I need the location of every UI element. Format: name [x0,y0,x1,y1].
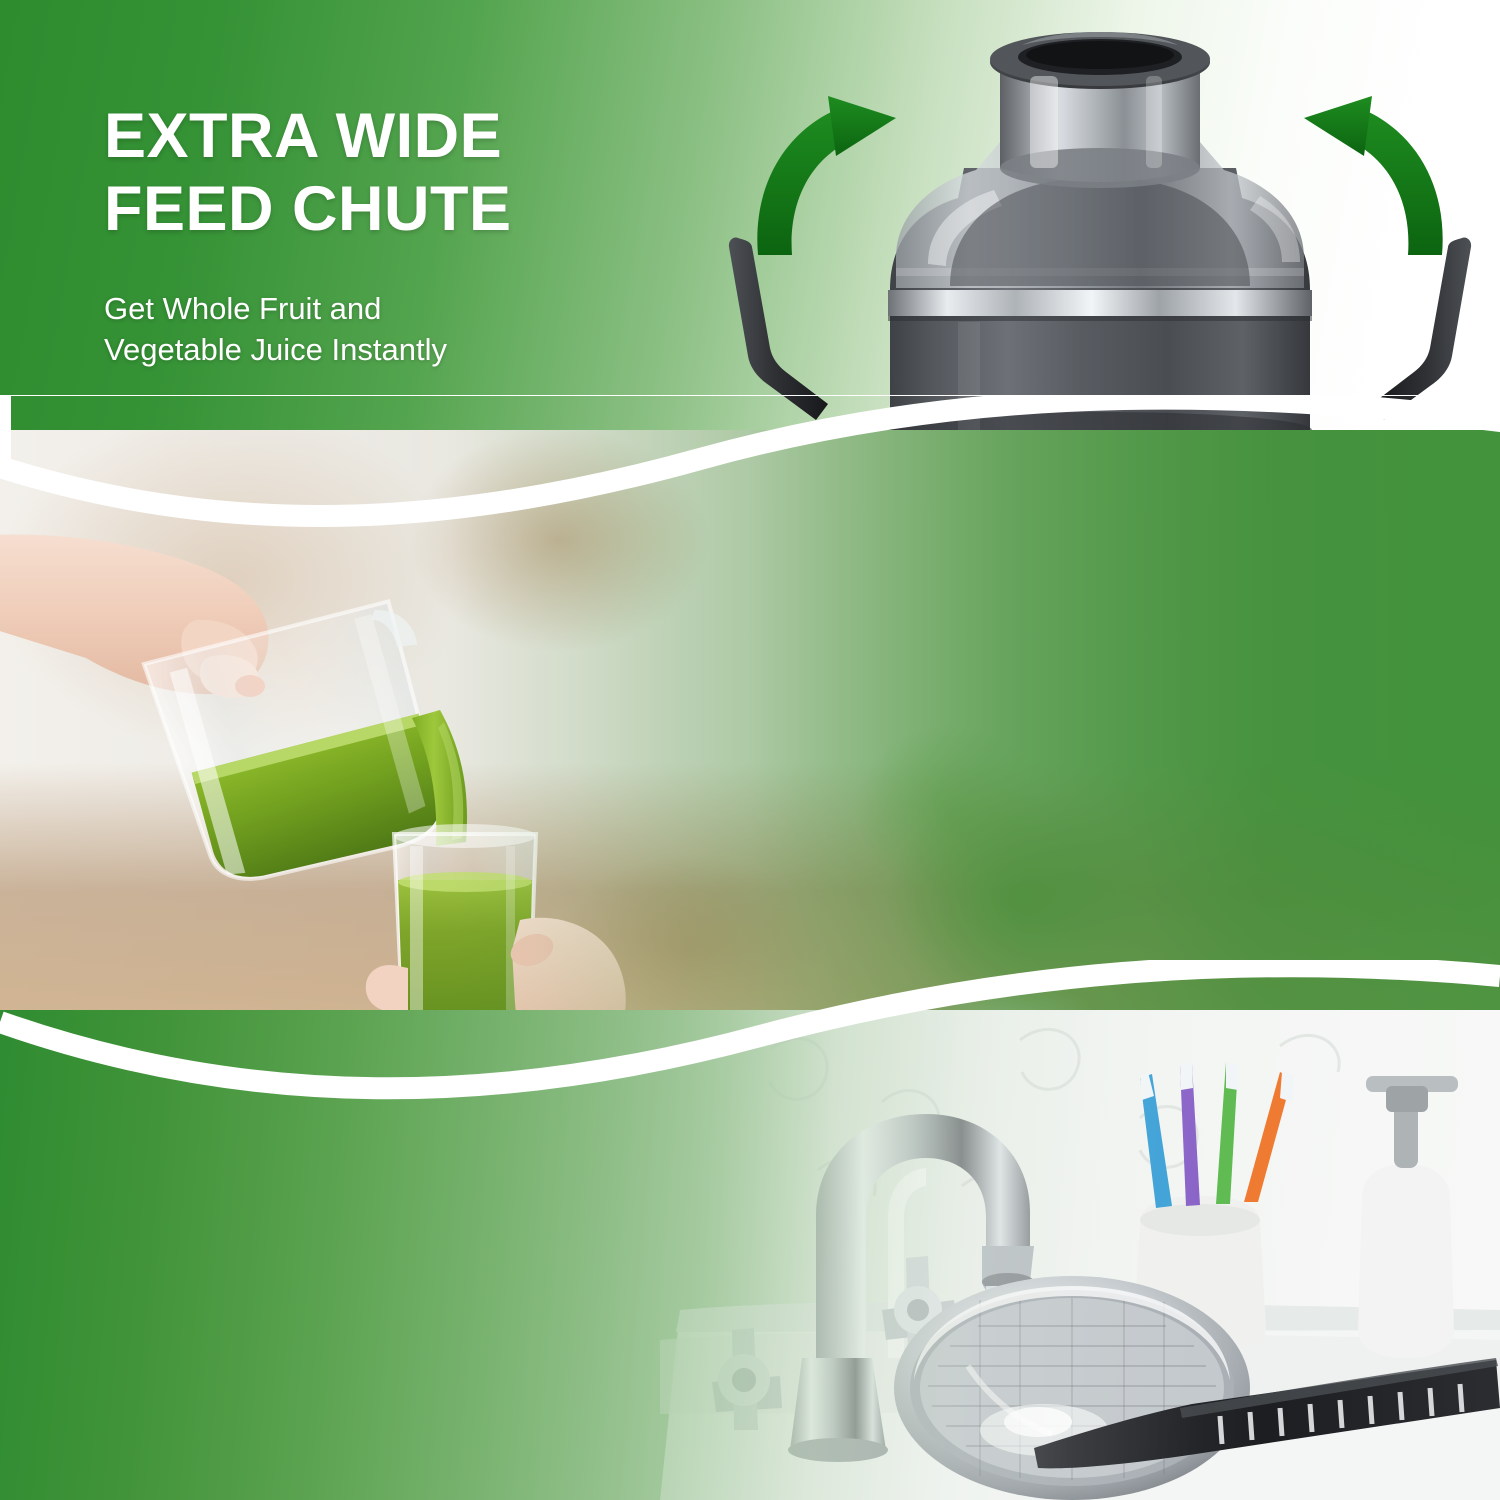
panel1-heading: EXTRA WIDE FEED CHUTE [104,100,512,246]
rotation-arrow-left [757,96,896,255]
infographic-canvas: EXTRA WIDE FEED CHUTE Get Whole Fruit an… [0,0,1500,1500]
locking-arm-right [1372,237,1471,420]
panel1-sub-line2: Vegetable Juice Instantly [104,329,512,370]
rotation-arrow-right [1304,96,1443,255]
panel-built-in-separator: Built-in Separator Reduces pulp and foam… [0,430,1500,1070]
panel-easy-to-clean: Easy to Clean Brush included ensure 360°… [0,1010,1500,1500]
feed-chute [990,32,1210,188]
panel1-text-block: EXTRA WIDE FEED CHUTE Get Whole Fruit an… [104,100,512,371]
locking-arm-left [729,237,828,420]
panel1-heading-line1: EXTRA WIDE [104,100,512,173]
juicer-with-rotation-arrows [700,0,1500,470]
panel2-green-tint [0,430,1500,1070]
panel1-sub-line1: Get Whole Fruit and [104,288,512,329]
panel1-heading-line2: FEED CHUTE [104,173,512,246]
panel-extra-wide-feed-chute: EXTRA WIDE FEED CHUTE Get Whole Fruit an… [0,0,1500,470]
panel1-subheading: Get Whole Fruit and Vegetable Juice Inst… [104,288,512,370]
panel3-green-overlay [0,1010,1500,1500]
